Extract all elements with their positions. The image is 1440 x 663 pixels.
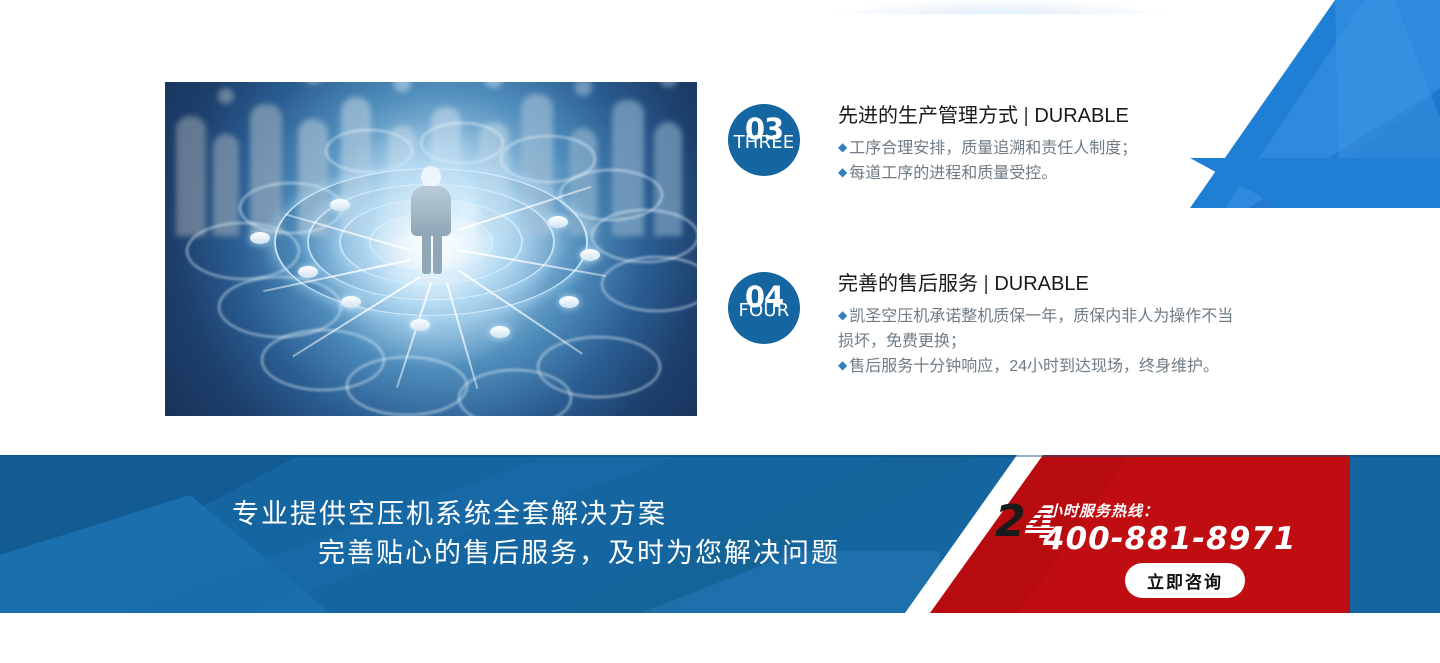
bullet-text: 凯圣空压机承诺整机质保一年，质保内非人为操作不当损坏，免费更换；: [838, 308, 1233, 350]
hotline-phone-number: 400-881-8971: [1043, 521, 1296, 557]
feature-title: 先进的生产管理方式 | DURABLE: [838, 104, 1137, 128]
feature-badge-04: 04 FOUR: [728, 272, 800, 344]
bullet-text: 工序合理安排，质量追溯和责任人制度；: [849, 140, 1137, 157]
feature-block-04: 04 FOUR 完善的售后服务 | DURABLE ◆凯圣空压机承诺整机质保一年…: [728, 272, 1248, 379]
feature-title-separator: |: [978, 273, 994, 295]
badge-word: THREE: [728, 134, 800, 152]
bullet-marker-icon: ◆: [838, 140, 847, 154]
feature-title: 完善的售后服务 | DURABLE: [838, 272, 1248, 296]
feature-block-03: 03 THREE 先进的生产管理方式 | DURABLE ◆工序合理安排，质量追…: [728, 104, 1137, 187]
feature-title-cn: 完善的售后服务: [838, 273, 978, 295]
consult-now-button[interactable]: 立即咨询: [1125, 563, 1245, 598]
illustration-central-person: [410, 166, 452, 274]
page-root: 03 THREE 先进的生产管理方式 | DURABLE ◆工序合理安排，质量追…: [0, 0, 1440, 663]
bullet-marker-icon: ◆: [838, 358, 847, 372]
bullet-text: 售后服务十分钟响应，24小时到达现场，终身维护。: [849, 358, 1219, 375]
bullet-text: 每道工序的进程和质量受控。: [849, 165, 1057, 182]
feature-bullet: ◆每道工序的进程和质量受控。: [838, 162, 1137, 187]
feature-title-cn: 先进的生产管理方式: [838, 105, 1018, 127]
feature-bullet: ◆凯圣空压机承诺整机质保一年，质保内非人为操作不当损坏，免费更换；: [838, 305, 1248, 355]
feature-title-separator: |: [1018, 105, 1034, 127]
banner-headline-line-1: 专业提供空压机系统全套解决方案: [232, 501, 930, 528]
feature-badge-03: 03 THREE: [728, 104, 800, 176]
badge-word: FOUR: [728, 302, 800, 320]
top-gradient-wash: [830, 0, 1170, 14]
feature-bullet: ◆工序合理安排，质量追溯和责任人制度；: [838, 137, 1137, 162]
bullet-marker-icon: ◆: [838, 308, 847, 322]
feature-title-en: DURABLE: [1034, 105, 1128, 127]
network-concept-image: [165, 82, 697, 416]
feature-bullet: ◆售后服务十分钟响应，24小时到达现场，终身维护。: [838, 355, 1248, 380]
banner-headline-line-2: 完善贴心的售后服务，及时为您解决问题: [318, 540, 930, 567]
hotline-label: 小时服务热线：: [1047, 500, 1159, 521]
hotline-block: 2 4 小时服务热线： 400-881-8971 立即咨询: [995, 497, 1265, 607]
bullet-marker-icon: ◆: [838, 165, 847, 179]
banner-headline-group: 专业提供空压机系统全套解决方案 完善贴心的售后服务，及时为您解决问题: [0, 455, 930, 613]
hotline-digit-2: 2: [995, 500, 1026, 544]
feature-title-en: DURABLE: [994, 273, 1088, 295]
